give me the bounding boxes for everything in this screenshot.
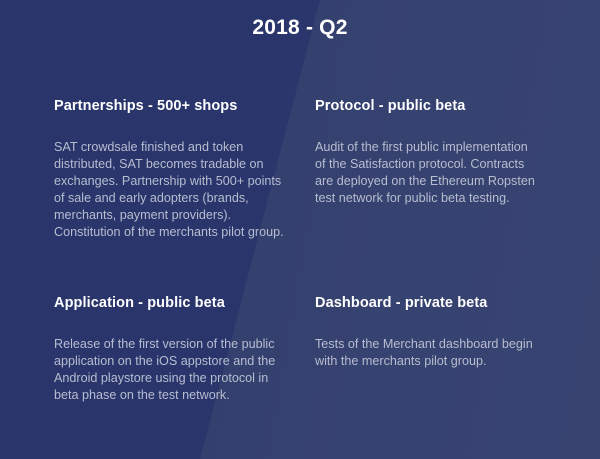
milestone-title: Partnerships - 500+ shops [54, 97, 299, 115]
milestone-title: Dashboard - private beta [315, 294, 538, 312]
milestone-title: Protocol - public beta [315, 97, 538, 115]
milestone-grid: Partnerships - 500+ shops SAT crowdsale … [54, 97, 554, 404]
roadmap-slide: 2018 - Q2 Partnerships - 500+ shops SAT … [0, 0, 600, 459]
milestone-dashboard: Dashboard - private beta Tests of the Me… [315, 294, 554, 404]
milestone-description: Audit of the first public implementation… [315, 139, 538, 207]
milestone-protocol: Protocol - public beta Audit of the firs… [315, 97, 554, 294]
milestone-application: Application - public beta Release of the… [54, 294, 315, 404]
milestone-partnerships: Partnerships - 500+ shops SAT crowdsale … [54, 97, 315, 294]
milestone-description: Release of the first version of the publ… [54, 336, 294, 404]
milestone-description: SAT crowdsale finished and token distrib… [54, 139, 294, 241]
milestone-description: Tests of the Merchant dashboard begin wi… [315, 336, 538, 370]
milestone-title: Application - public beta [54, 294, 299, 312]
page-title: 2018 - Q2 [0, 16, 600, 40]
